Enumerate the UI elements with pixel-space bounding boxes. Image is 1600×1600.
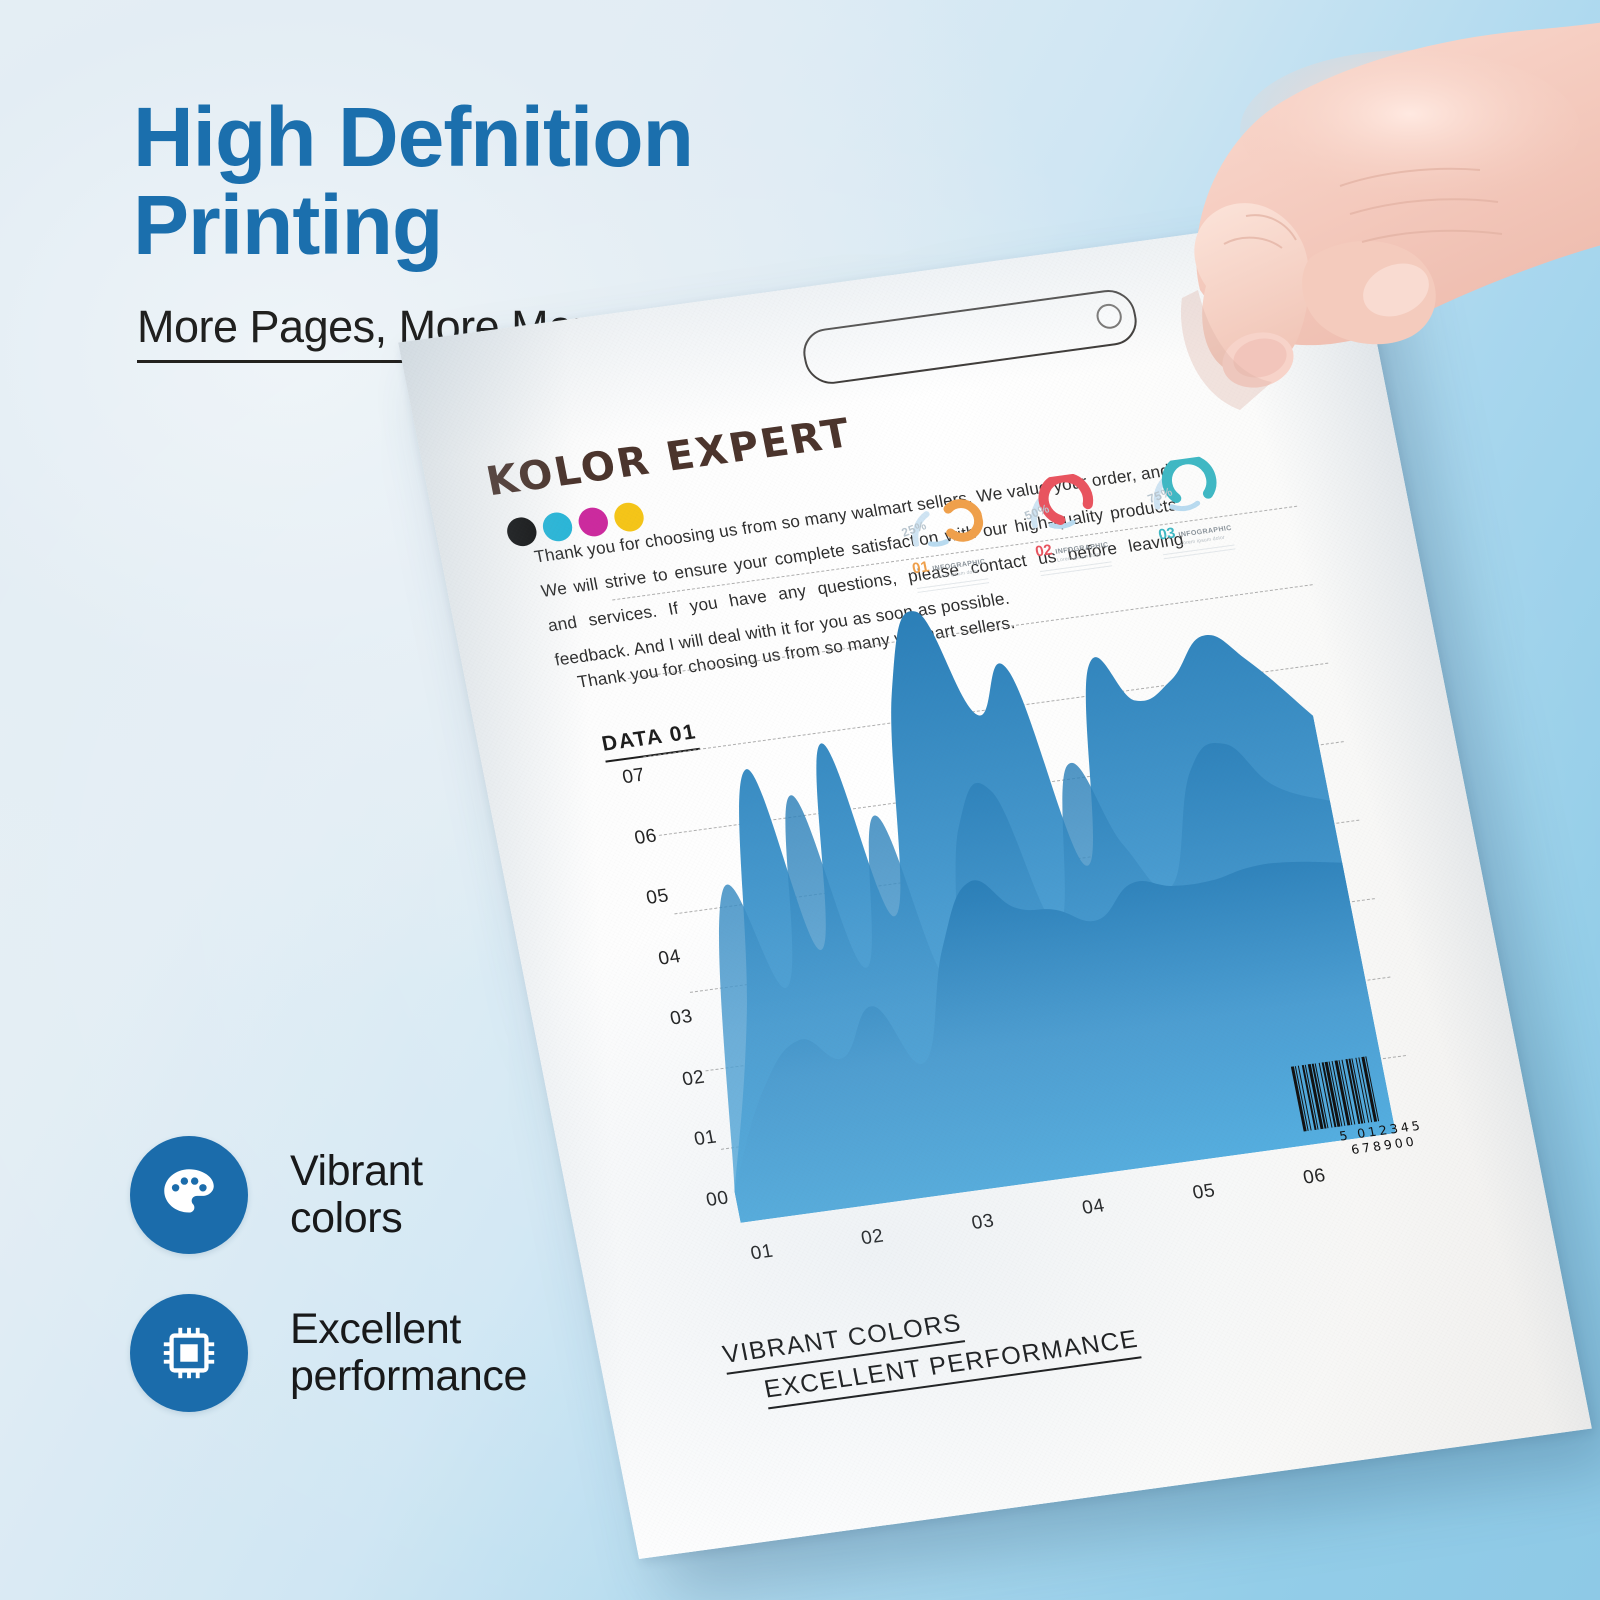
chart-y-tick: 01 (659, 1127, 727, 1195)
chart-y-tick: 06 (599, 825, 667, 893)
donut-arc-icon (893, 487, 988, 557)
feature-label: Excellent performance (290, 1306, 527, 1401)
feature-label-line-1: Excellent (290, 1305, 461, 1353)
chart-y-tick: 07 (587, 765, 655, 833)
hand-illustration-icon (1010, 0, 1600, 460)
headline-line-1: High Defnition (133, 90, 693, 184)
chart-y-tick: 05 (611, 885, 679, 953)
chart-y-tick: 04 (623, 946, 691, 1014)
cpu-chip-icon (158, 1322, 220, 1384)
feature-label-line-2: colors (290, 1194, 402, 1242)
hand-holding-paper (1010, 0, 1600, 460)
feature-item-excellent-performance: Excellent performance (130, 1294, 650, 1412)
feature-label-line-2: performance (290, 1352, 527, 1400)
barcode: 5 012345 678900 (1291, 1046, 1461, 1163)
infographic-arc: 25% (893, 487, 988, 557)
donut-arc-icon (1016, 470, 1111, 540)
infographic-arc: 75% (1139, 453, 1234, 523)
feature-badge (130, 1136, 248, 1254)
chart-area-svg (618, 515, 1395, 1223)
feature-badge (130, 1294, 248, 1412)
feature-label: Vibrant colors (290, 1148, 423, 1243)
palette-icon (156, 1162, 222, 1228)
chart-plot-area (618, 515, 1395, 1223)
donut-arc-icon (1139, 453, 1234, 523)
page-title: High Defnition Printing (133, 96, 893, 267)
chart-y-tick: 02 (647, 1066, 715, 1134)
infographic-arc: 50% (1016, 470, 1111, 540)
chart-y-tick: 03 (635, 1006, 703, 1074)
chart-y-tick: 00 (671, 1187, 739, 1255)
headline-line-2: Printing (133, 184, 893, 266)
feature-label-line-1: Vibrant (290, 1147, 423, 1195)
